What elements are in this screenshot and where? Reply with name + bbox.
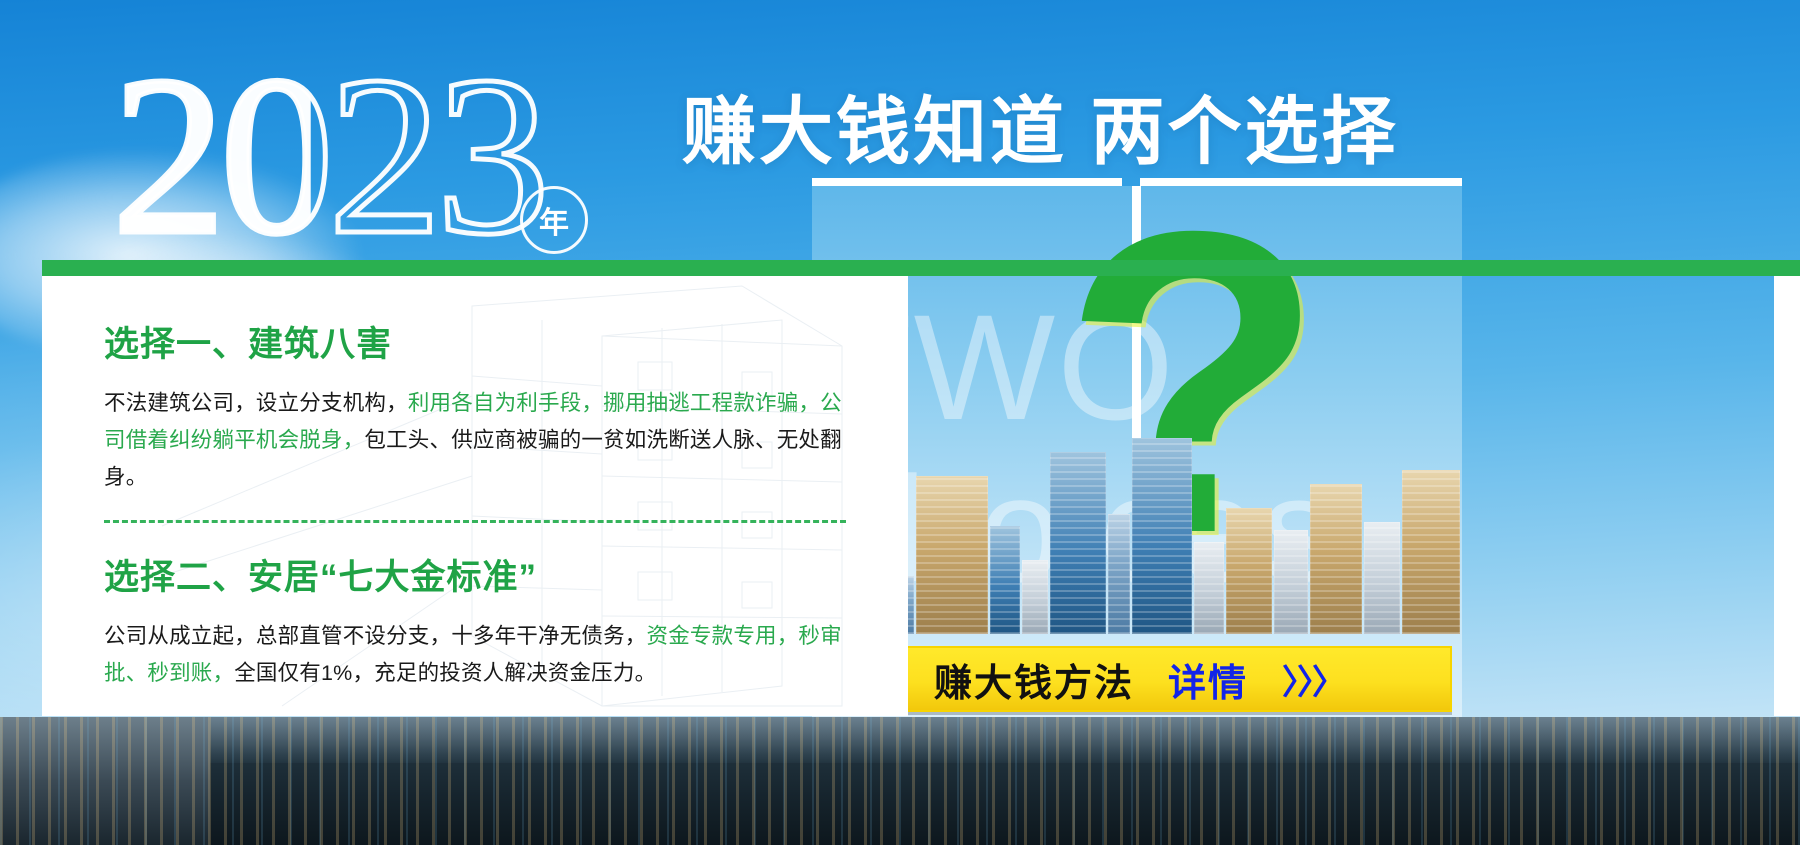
chevron-right-icon: 〉〉〉 xyxy=(1282,655,1344,704)
cta-detail-label: 详情 xyxy=(1168,652,1248,707)
cta-button[interactable]: 赚大钱方法 详情 〉〉〉 xyxy=(826,646,1452,712)
section-body-one: 不法建筑公司，设立分支机构，利用各自为利手段，挪用抽逃工程款诈骗，公司借着纠纷躺… xyxy=(104,385,846,496)
section-divider xyxy=(104,520,846,523)
green-accent-bar xyxy=(42,260,1774,276)
green-accent-bar-right xyxy=(1774,260,1800,276)
section-title-one: 选择一、建筑八害 xyxy=(104,316,846,367)
white-panel-right xyxy=(1774,276,1800,716)
section-body-two: 公司从成立起，总部直管不设分支，十多年干净无债务，资金专款专用，秒审批、秒到账，… xyxy=(104,618,846,692)
section-title-two: 选择二、安居“七大金标准” xyxy=(104,549,846,600)
body-segment: 公司从成立起，总部直管不设分支，十多年干净无债务， xyxy=(104,624,647,648)
city-skyline xyxy=(812,434,1462,634)
content-card: 选择一、建筑八害 不法建筑公司，设立分支机构，利用各自为利手段，挪用抽逃工程款诈… xyxy=(42,276,908,716)
promo-banner: 2023 2023 年 赚大钱知道 两个选择 TWO choices ? xyxy=(0,0,1800,845)
body-segment: 不法建筑公司，设立分支机构， xyxy=(104,391,408,415)
cta-main-label: 赚大钱方法 xyxy=(934,652,1134,707)
strip-city-lights xyxy=(0,717,1800,845)
body-segment: 全国仅有1%，充足的投资人解决资金压力。 xyxy=(234,661,656,685)
bottom-night-strip xyxy=(0,717,1800,845)
year-suffix-badge: 年 xyxy=(520,186,588,254)
page-title: 赚大钱知道 两个选择 xyxy=(682,72,1399,179)
